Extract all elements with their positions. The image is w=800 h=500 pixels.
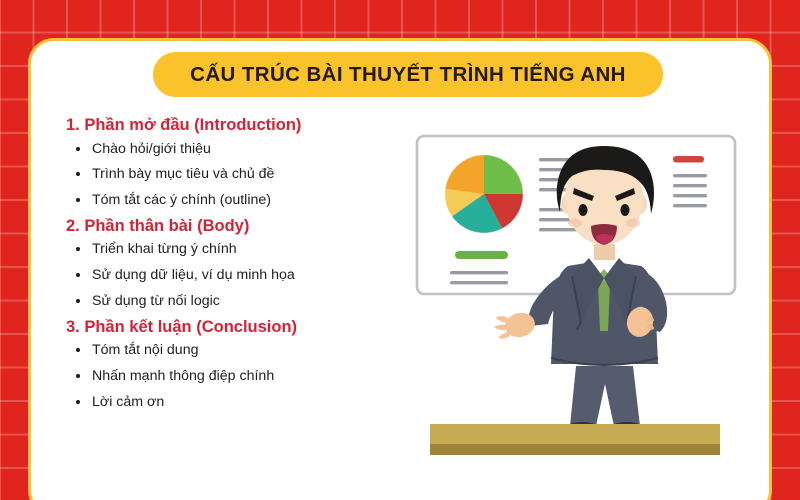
presenter-illustration [408,126,760,458]
eye-right [620,204,629,216]
section-conclusion: 3. Phần kết luận (Conclusion) Tóm tắt nộ… [66,319,396,410]
page-title: CẤU TRÚC BÀI THUYẾT TRÌNH TIẾNG ANH [190,63,626,87]
list-item-label: Nhấn mạnh thông điệp chính [92,368,274,384]
bullet-dot-icon [76,172,80,176]
trousers [570,366,640,426]
list-item-label: Tóm tắt các ý chính (outline) [92,192,271,208]
section-heading: 3. Phần kết luận (Conclusion) [66,319,396,336]
list-item-label: Lời cảm ơn [92,394,164,410]
list-item: Chào hỏi/giới thiệu [66,141,396,157]
section-heading: 2. Phần thân bài (Body) [66,218,396,235]
list-item-label: Tóm tắt nội dung [92,342,198,358]
section-body: 2. Phần thân bài (Body) Triển khai từng … [66,218,396,309]
neck [594,244,615,260]
bullet-dot-icon [76,147,80,151]
bullet-dot-icon [76,198,80,202]
bullet-dot-icon [76,299,80,303]
eye-left [578,204,587,216]
bullet-dot-icon [76,374,80,378]
list-item: Trình bày mục tiêu và chủ đề [66,166,396,182]
section-bullets: Tóm tắt nội dung Nhấn mạnh thông điệp ch… [66,342,396,410]
bullet-dot-icon [76,400,80,404]
bullet-dot-icon [76,348,80,352]
list-item-label: Triển khai từng ý chính [92,241,237,257]
section-bullets: Chào hỏi/giới thiệu Trình bày mục tiêu v… [66,141,396,209]
list-item: Sử dụng dữ liệu, ví dụ minh họa [66,267,396,283]
list-item: Triển khai từng ý chính [66,241,396,257]
outline-list: 1. Phần mở đầu (Introduction) Chào hỏi/g… [66,112,396,420]
list-item-label: Chào hỏi/giới thiệu [92,141,211,157]
list-item: Nhấn mạnh thông điệp chính [66,368,396,384]
list-item: Tóm tắt các ý chính (outline) [66,192,396,208]
bullet-dot-icon [76,247,80,251]
list-item-label: Trình bày mục tiêu và chủ đề [92,166,274,182]
pie-chart [445,155,523,233]
list-item: Lời cảm ơn [66,394,396,410]
stage-platform [430,424,720,455]
section-introduction: 1. Phần mở đầu (Introduction) Chào hỏi/g… [66,117,396,208]
title-banner: CẤU TRÚC BÀI THUYẾT TRÌNH TIẾNG ANH [153,52,663,97]
list-item: Sử dụng từ nối logic [66,293,396,309]
list-item-label: Sử dụng từ nối logic [92,293,220,309]
bullet-dot-icon [76,273,80,277]
list-item-label: Sử dụng dữ liệu, ví dụ minh họa [92,267,295,283]
cheek-right [626,219,640,228]
section-heading: 1. Phần mở đầu (Introduction) [66,117,396,134]
cheek-left [568,219,582,228]
section-bullets: Triển khai từng ý chính Sử dụng dữ liệu,… [66,241,396,309]
list-item: Tóm tắt nội dung [66,342,396,358]
